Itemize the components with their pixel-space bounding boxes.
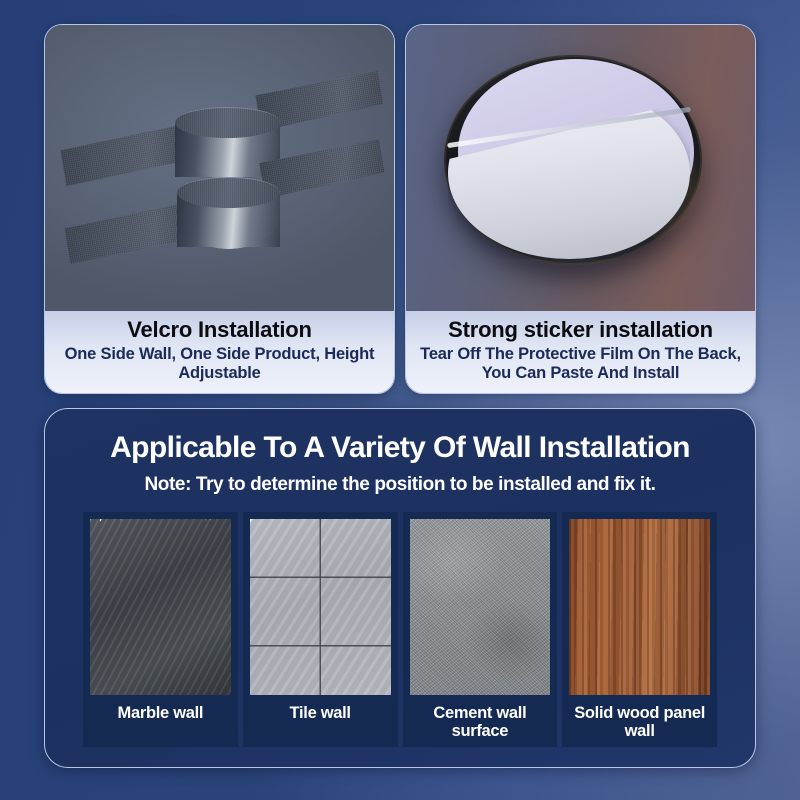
dark-grey-marble-swatch (90, 519, 231, 695)
infographic-page: Velcro Installation One Side Wall, One S… (0, 0, 800, 800)
grey-tile-grid-swatch (250, 519, 391, 695)
grey-cement-swatch (410, 519, 551, 695)
card-velcro-installation[interactable]: Velcro Installation One Side Wall, One S… (44, 24, 395, 394)
wall-swatch-item[interactable]: Cement wall surface (403, 512, 558, 747)
caption-subtitle-velcro: One Side Wall, One Side Product, Height … (55, 345, 384, 383)
wall-swatch-label: Solid wood panel wall (569, 704, 710, 741)
caption-title-sticker: Strong sticker installation (416, 318, 745, 343)
wall-types-panel: Applicable To A Variety Of Wall Installa… (44, 408, 756, 768)
wall-swatch-item[interactable]: Tile wall (243, 512, 398, 747)
adhesive-sticker-disc-photo (406, 25, 755, 311)
caption-velcro: Velcro Installation One Side Wall, One S… (45, 311, 394, 393)
velcro-loop-lower-cap (177, 177, 280, 208)
card-sticker-installation[interactable]: Strong sticker installation Tear Off The… (405, 24, 756, 394)
wall-swatch-label: Tile wall (290, 704, 351, 722)
velcro-loop-upper-cap (175, 107, 280, 138)
wall-swatch-item[interactable]: Solid wood panel wall (562, 512, 717, 747)
wall-swatch-label: Marble wall (118, 704, 204, 722)
caption-title-velcro: Velcro Installation (55, 318, 384, 343)
panel-title: Applicable To A Variety Of Wall Installa… (63, 431, 737, 464)
wall-swatch-label: Cement wall surface (410, 704, 551, 741)
brown-wood-grain-swatch (569, 519, 710, 695)
caption-subtitle-sticker: Tear Off The Protective Film On The Back… (416, 345, 745, 383)
panel-note: Note: Try to determine the position to b… (63, 474, 737, 496)
caption-sticker: Strong sticker installation Tear Off The… (406, 311, 755, 393)
velcro-strips-photo (45, 25, 394, 311)
wall-swatch-item[interactable]: Marble wall (83, 512, 238, 747)
wall-swatch-row: Marble wall Tile wall Cement wall surfac… (63, 512, 737, 747)
installation-methods-row: Velcro Installation One Side Wall, One S… (44, 24, 756, 394)
